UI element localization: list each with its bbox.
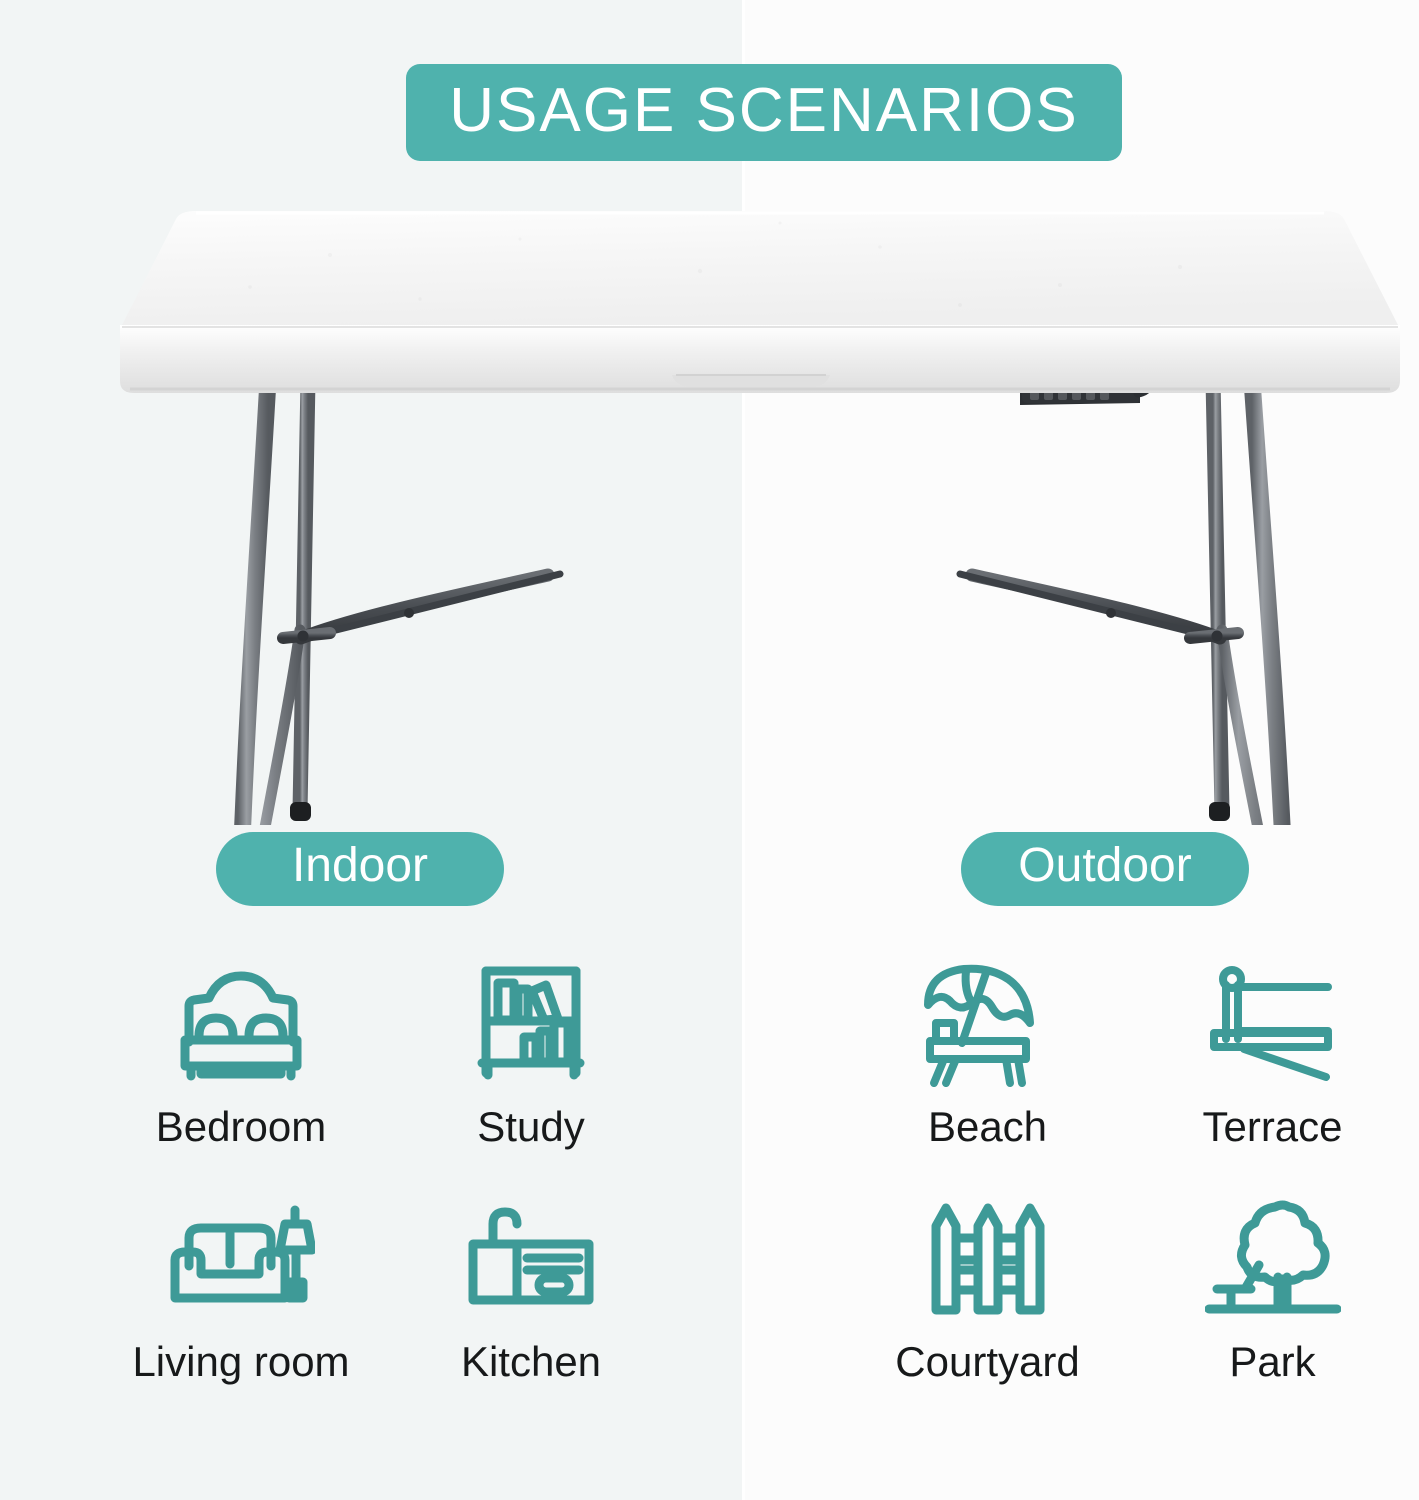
scenario-label-beach: Beach: [928, 1106, 1047, 1148]
kitchen-sink-icon: [465, 1195, 597, 1325]
scenario-label-kitchen: Kitchen: [461, 1341, 601, 1383]
page-title: USAGE SCENARIOS: [449, 80, 1078, 146]
scenario-item-living-room: Living room: [96, 1195, 386, 1430]
scenario-item-kitchen: Kitchen: [386, 1195, 676, 1430]
scenario-item-bedroom: Bedroom: [96, 960, 386, 1195]
scenario-item-study: Study: [386, 960, 676, 1195]
sofa-lamp-icon: [167, 1195, 315, 1325]
scenario-label-living-room: Living room: [132, 1341, 349, 1383]
scenario-item-beach: Beach: [845, 960, 1130, 1195]
section-pill-indoor: Indoor: [216, 832, 504, 906]
folding-table-image: [0, 175, 1419, 825]
table-top: [120, 211, 1400, 393]
scenario-item-terrace: Terrace: [1130, 960, 1415, 1195]
outdoor-icon-grid: Beach Te: [845, 960, 1415, 1430]
scenario-item-park: Park: [1130, 1195, 1415, 1430]
section-pill-outdoor: Outdoor: [961, 832, 1249, 906]
section-pill-outdoor-label: Outdoor: [1018, 842, 1191, 896]
scenario-label-study: Study: [477, 1106, 584, 1148]
scenario-label-terrace: Terrace: [1202, 1106, 1342, 1148]
terrace-railing-icon: [1208, 960, 1338, 1090]
scenario-label-courtyard: Courtyard: [895, 1341, 1079, 1383]
tree-bench-icon: [1205, 1195, 1341, 1325]
scenario-label-bedroom: Bedroom: [156, 1106, 326, 1148]
section-pill-indoor-label: Indoor: [292, 842, 428, 896]
infographic-page: USAGE SCENARIOS: [0, 0, 1419, 1500]
table-legs: [228, 380, 1292, 825]
title-banner: USAGE SCENARIOS: [406, 64, 1122, 161]
bed-icon: [175, 960, 307, 1090]
picket-fence-icon: [926, 1195, 1050, 1325]
beach-umbrella-lounger-icon: [922, 960, 1054, 1090]
scenario-label-park: Park: [1229, 1341, 1315, 1383]
bookshelf-icon: [470, 960, 592, 1090]
indoor-icon-grid: Bedroom: [96, 960, 676, 1430]
scenario-item-courtyard: Courtyard: [845, 1195, 1130, 1430]
